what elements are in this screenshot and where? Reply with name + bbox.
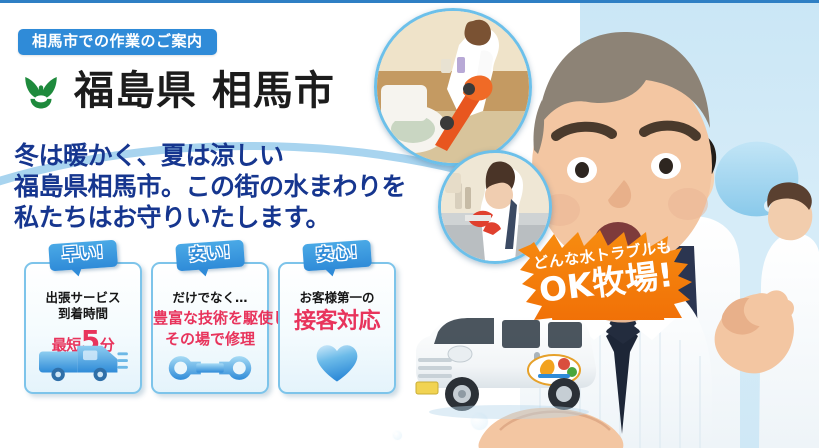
feature-card-highlight-line1: 接客対応 [280,309,394,335]
feature-card-subtitle-line2: 到着時間 [26,306,140,322]
lede-line-2: 福島県相馬市。この街の水まわりを [14,171,406,202]
feature-card-tab: 安い! [175,240,244,271]
feature-card-art [26,340,140,388]
service-banner: 相馬市での作業のご案内 福島県 相馬市 冬は暖かく、夏は涼しい 福島県相馬市。こ… [0,0,819,448]
starburst-badge: どんな水トラブルも OK牧場! [512,228,698,320]
feature-card-service[interactable]: 安心! お客様第一の 接客対応 [278,262,396,394]
feature-card-subtitle-line1: 出張サービス [26,290,140,306]
delivery-van-icon [37,340,129,388]
page-title-row: 福島県 相馬市 [20,70,335,112]
lede-line-3: 私たちはお守りいたします。 [14,202,406,233]
feature-card-price[interactable]: 安い! だけでなく… 豊富な技術を駆使し その場で修理 [151,262,269,394]
feature-card-tab: 早い! [48,240,117,271]
feature-card-list: 早い! 出張サービス 到着時間 最短5分 [24,262,396,394]
lede-line-1: 冬は暖かく、夏は涼しい [14,140,406,171]
feature-card-speed[interactable]: 早い! 出張サービス 到着時間 最短5分 [24,262,142,394]
top-border-line [0,0,819,3]
sprout-leaf-icon [20,70,62,112]
feature-card-art [153,340,267,388]
photo-toilet-repair [374,8,532,166]
wrench-icon [166,352,254,388]
feature-card-subtitle-line1: だけでなく… [153,290,267,306]
lede-paragraph: 冬は暖かく、夏は涼しい 福島県相馬市。この街の水まわりを 私たちはお守りいたしま… [14,140,406,233]
feature-card-subtitle-line1: お客様第一の [280,290,394,306]
location-ribbon-badge: 相馬市での作業のご案内 [18,29,217,55]
page-title: 福島県 相馬市 [74,71,335,111]
feature-card-art [280,340,394,388]
feature-card-highlight-line1: 豊富な技術を駆使し [153,309,267,327]
heart-icon [314,342,360,388]
feature-card-tab: 安心! [302,240,371,271]
